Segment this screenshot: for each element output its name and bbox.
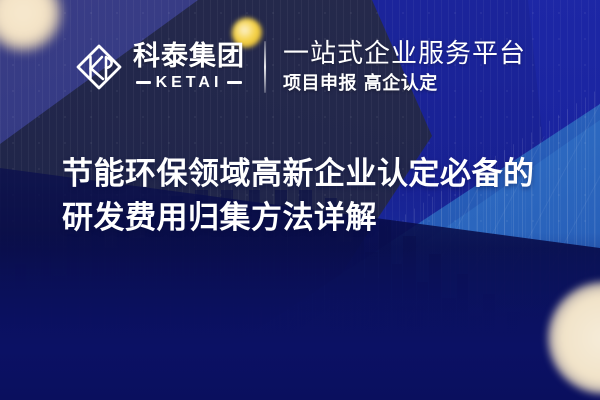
dash-right-icon: [227, 81, 242, 84]
brand-name-en: KETAI: [156, 75, 223, 91]
brand-logo-text: 科泰集团 KETAI: [133, 43, 245, 91]
brand-name-en-row: KETAI: [136, 75, 243, 91]
banner-header: 科泰集团 KETAI 一站式企业服务平台 项目申报 高企认定: [0, 40, 600, 93]
brand-slogan: 一站式企业服务平台 项目申报 高企认定: [283, 40, 526, 93]
slogan-sub-text: 项目申报 高企认定: [283, 75, 526, 93]
title-line-1: 节能环保领域高新企业认定必备的: [62, 152, 562, 196]
brand-logo: 科泰集团 KETAI: [74, 42, 245, 92]
title-line-2: 研发费用归集方法详解: [62, 196, 562, 240]
slogan-main-text: 一站式企业服务平台: [283, 40, 526, 68]
page-title: 节能环保领域高新企业认定必备的 研发费用归集方法详解: [62, 152, 562, 240]
brand-name-cn: 科泰集团: [133, 43, 245, 70]
bottom-vignette-2: [0, 232, 600, 400]
dash-left-icon: [136, 81, 151, 84]
ketai-diamond-kp-logo-icon: [74, 42, 124, 92]
vertical-divider: [264, 41, 266, 93]
promo-banner: 科泰集团 KETAI 一站式企业服务平台 项目申报 高企认定 节能环保领域高新企…: [0, 0, 600, 400]
